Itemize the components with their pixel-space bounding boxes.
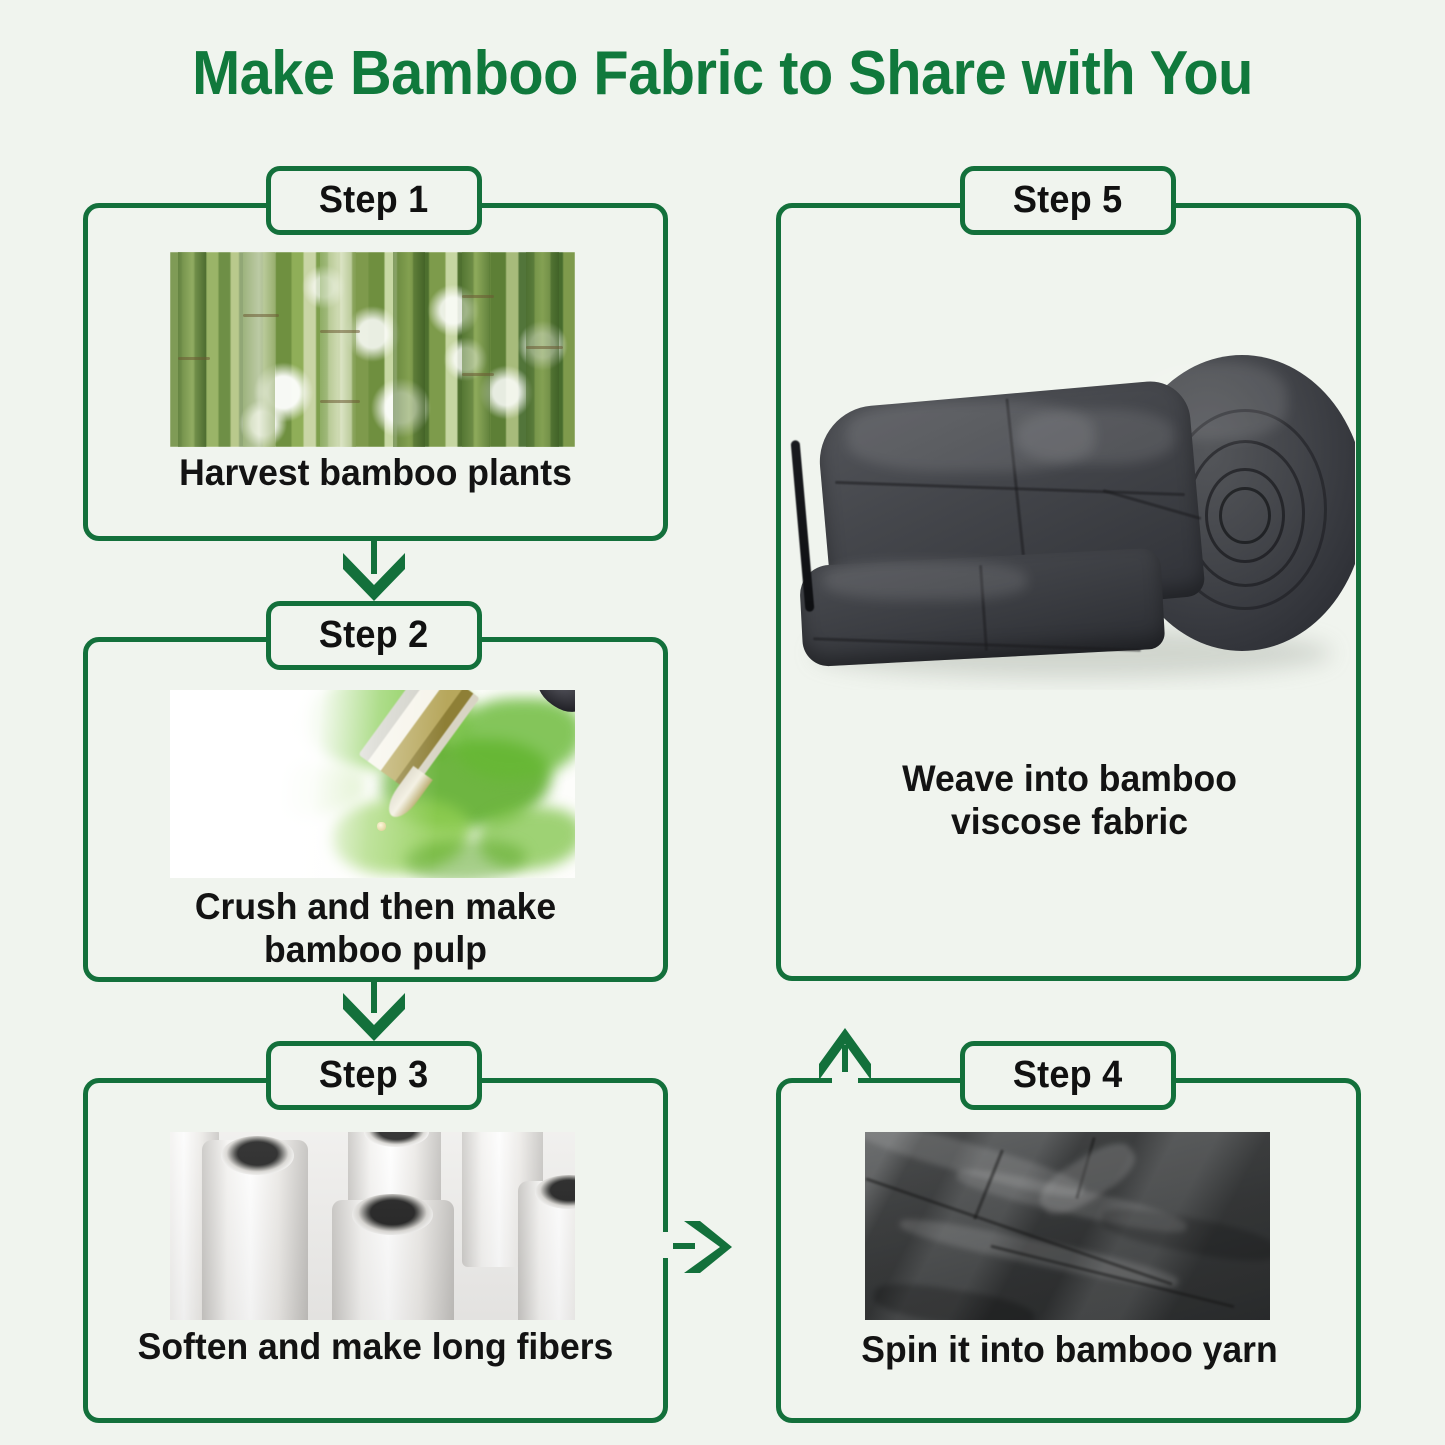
step-4-top-border-notch [832,1072,858,1085]
step-2-caption: Crush and then make bamboo pulp [100,886,652,972]
page-title: Make Bamboo Fabric to Share with You [51,38,1395,109]
step-2-badge-label: Step 2 [319,614,428,657]
step-4-badge: Step 4 [960,1041,1176,1110]
rolled-grey-weighted-blanket-photo [790,300,1355,690]
step-3-caption: Soften and make long fibers [100,1326,652,1369]
step-5-caption: Weave into bamboo viscose fabric [794,758,1346,844]
step-1-badge: Step 1 [266,166,482,235]
bamboo-forest-photo [170,252,575,447]
step-1-caption: Harvest bamboo plants [100,452,652,495]
step-2-badge: Step 2 [266,601,482,670]
step-4-caption: Spin it into bamboo yarn [794,1329,1346,1372]
step-4-badge-label: Step 4 [1013,1054,1122,1097]
white-yarn-cones-photo [170,1132,575,1320]
infographic-canvas: Make Bamboo Fabric to Share with You Ste… [0,0,1445,1445]
step-1-badge-label: Step 1 [319,179,428,222]
bamboo-pulp-dropper-photo [170,690,575,878]
step-3-badge-label: Step 3 [319,1054,428,1097]
step-3-badge: Step 3 [266,1041,482,1110]
step-5-badge: Step 5 [960,166,1176,235]
grey-bamboo-yarn-fabric-photo [865,1132,1270,1320]
step-3-right-border-notch [660,1232,673,1258]
step-5-badge-label: Step 5 [1013,179,1122,222]
